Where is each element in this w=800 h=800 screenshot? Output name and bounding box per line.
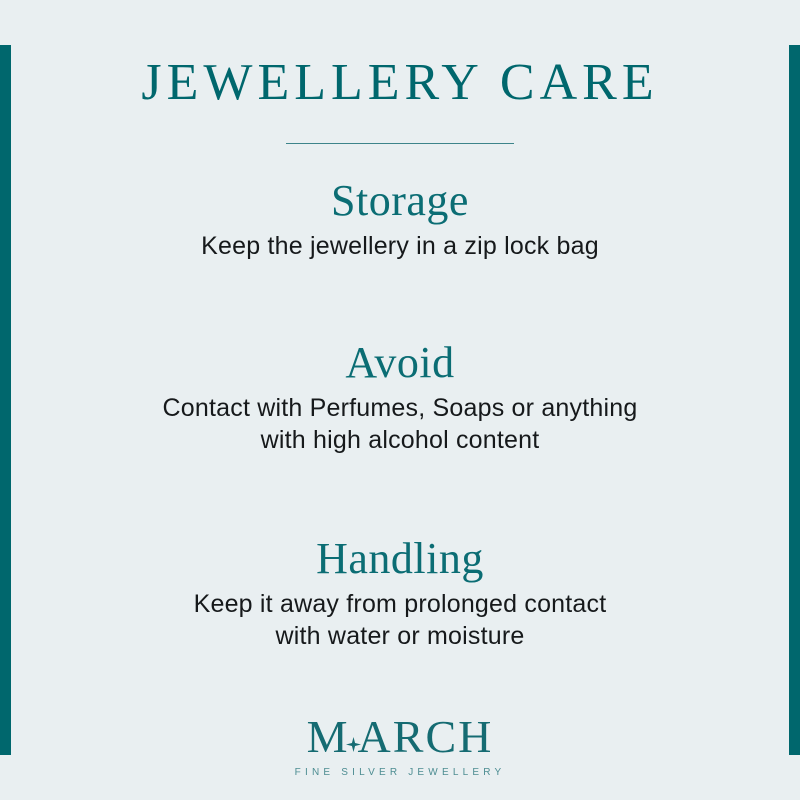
section-body-line: Keep the jewellery in a zip lock bag [40,231,760,263]
left-accent-bar [0,45,11,755]
section-heading-storage: Storage [40,176,760,225]
title-block: JEWELLERY CARE [0,56,800,144]
brand-letters-arch: ARCH [358,714,494,760]
right-accent-bar [789,45,800,755]
section-body-handling: Keep it away from prolonged contact with… [40,589,760,652]
care-section-handling: Handling Keep it away from prolonged con… [40,534,760,652]
brand-logo: M ARCH FINE SILVER JEWELLERY [0,714,800,778]
section-body-avoid: Contact with Perfumes, Soaps or anything… [40,393,760,456]
page-title: JEWELLERY CARE [0,56,800,111]
section-body-storage: Keep the jewellery in a zip lock bag [40,231,760,263]
brand-tagline: FINE SILVER JEWELLERY [0,767,800,778]
four-point-star-icon [346,737,361,752]
care-section-avoid: Avoid Contact with Perfumes, Soaps or an… [40,338,760,456]
section-body-line: Contact with Perfumes, Soaps or anything [40,393,760,425]
section-body-line: Keep it away from prolonged contact [40,589,760,621]
section-heading-avoid: Avoid [40,338,760,387]
care-sections: Storage Keep the jewellery in a zip lock… [40,176,760,652]
title-divider [286,143,514,144]
care-section-storage: Storage Keep the jewellery in a zip lock… [40,176,760,263]
jewellery-care-poster: JEWELLERY CARE Storage Keep the jeweller… [0,0,800,800]
section-heading-handling: Handling [40,534,760,583]
brand-wordmark: M ARCH [0,714,800,760]
section-body-line: with water or moisture [40,621,760,653]
brand-letter-m: M [307,714,350,760]
section-body-line: with high alcohol content [40,425,760,457]
